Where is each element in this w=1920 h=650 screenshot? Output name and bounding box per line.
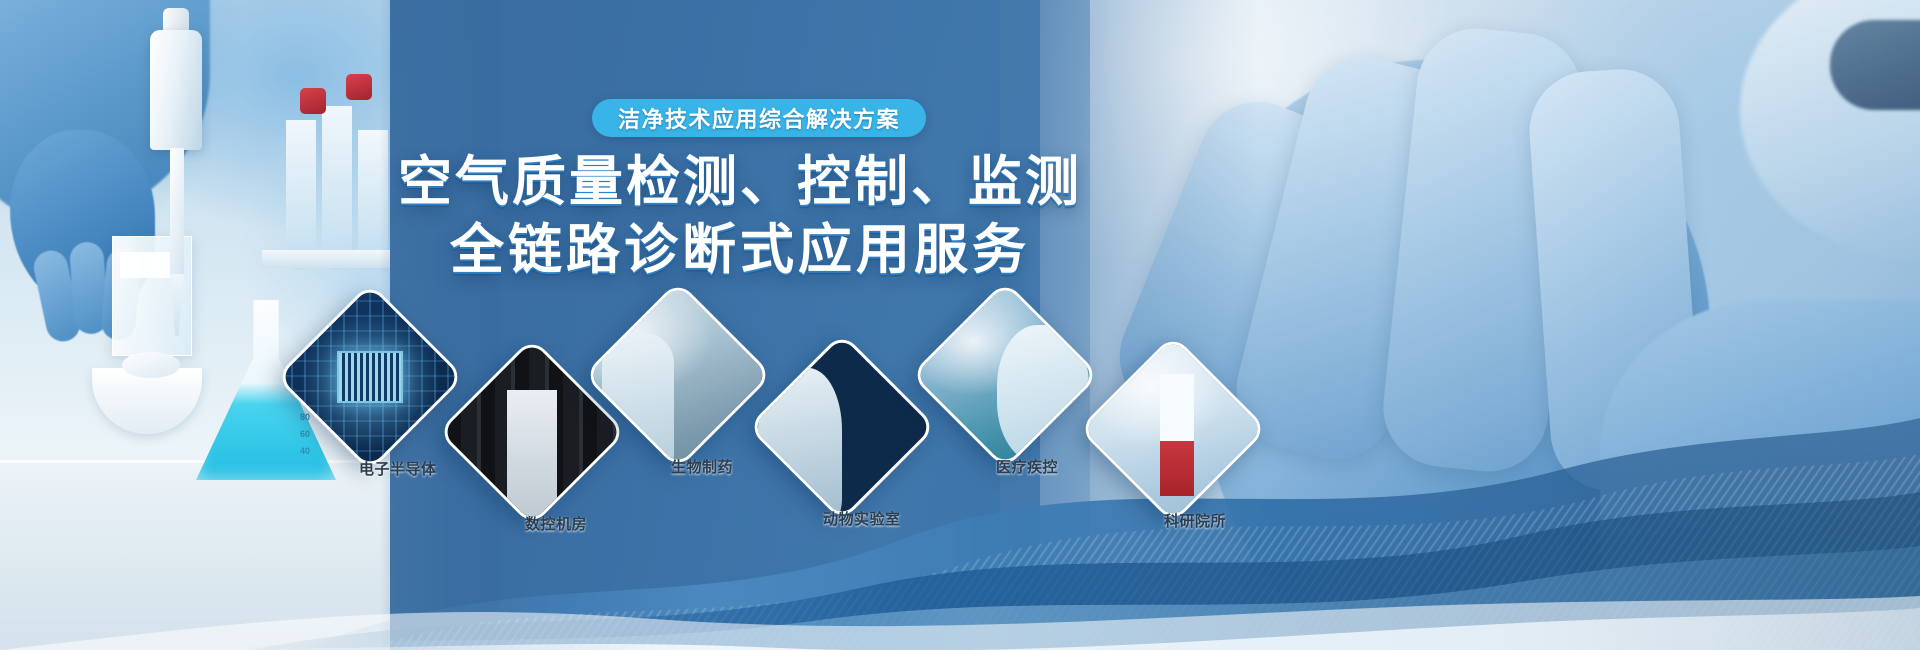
hero-banner: 100 80 60 40 洁净技术应用综合解决方案 空气质量检测、控制、监测 全… bbox=[0, 0, 1920, 650]
industry-card-diamond[interactable] bbox=[583, 280, 773, 470]
industry-card-biopharma[interactable]: 生物制药 bbox=[611, 308, 745, 442]
industry-card-medical[interactable]: 医疗疾控 bbox=[938, 308, 1072, 442]
industry-card-label: 生物制药 bbox=[671, 456, 733, 477]
industry-cards: 电子半导体 数控机房 生物制药 动物实验室 医疗疾控 bbox=[0, 0, 1920, 650]
industry-card-research[interactable]: 科研院所 bbox=[1106, 362, 1240, 496]
industry-card-diamond[interactable] bbox=[275, 282, 465, 472]
industry-card-diamond[interactable] bbox=[910, 280, 1100, 470]
industry-card-label: 电子半导体 bbox=[359, 458, 437, 479]
industry-card-datacenter[interactable]: 数控机房 bbox=[465, 365, 599, 499]
research-institute-icon bbox=[1078, 334, 1268, 524]
medical-icon bbox=[910, 280, 1100, 470]
industry-card-diamond[interactable] bbox=[747, 332, 937, 522]
semiconductor-icon bbox=[275, 282, 465, 472]
industry-card-animal-lab[interactable]: 动物实验室 bbox=[775, 360, 909, 494]
industry-card-electronics[interactable]: 电子半导体 bbox=[303, 310, 437, 444]
industry-card-diamond[interactable] bbox=[1078, 334, 1268, 524]
animal-lab-icon bbox=[747, 332, 937, 522]
biopharma-icon bbox=[583, 280, 773, 470]
industry-card-label: 动物实验室 bbox=[823, 508, 901, 529]
industry-card-label: 数控机房 bbox=[525, 513, 587, 534]
industry-card-label: 科研院所 bbox=[1164, 510, 1226, 531]
industry-card-label: 医疗疾控 bbox=[996, 456, 1058, 477]
